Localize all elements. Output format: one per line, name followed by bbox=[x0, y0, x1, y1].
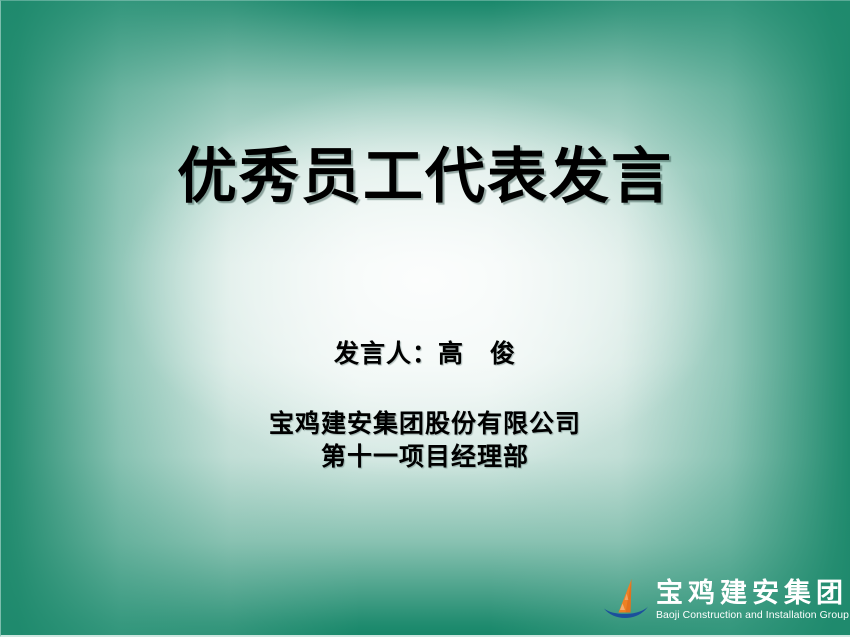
logo-text-block: 宝鸡建安集团 Baoji Construction and Installati… bbox=[656, 576, 850, 622]
speaker-name: 发言人：高 俊 bbox=[0, 334, 850, 370]
organization-company: 宝鸡建安集团股份有限公司 bbox=[0, 408, 850, 441]
logo-name-chinese: 宝鸡建安集团 bbox=[656, 578, 850, 608]
organization-department: 第十一项目经理部 bbox=[0, 441, 850, 474]
sail-boat-icon bbox=[598, 573, 652, 625]
page-title: 优秀员工代表发言 bbox=[0, 128, 850, 215]
presentation-slide: 优秀员工代表发言 发言人：高 俊 宝鸡建安集团股份有限公司 第十一项目经理部 宝… bbox=[0, 0, 850, 637]
company-logo: 宝鸡建安集团 Baoji Construction and Installati… bbox=[598, 568, 844, 630]
organization-block: 宝鸡建安集团股份有限公司 第十一项目经理部 bbox=[0, 408, 850, 474]
logo-name-english: Baoji Construction and Installation Grou… bbox=[656, 608, 850, 622]
slide-content: 优秀员工代表发言 发言人：高 俊 宝鸡建安集团股份有限公司 第十一项目经理部 宝… bbox=[0, 0, 850, 637]
